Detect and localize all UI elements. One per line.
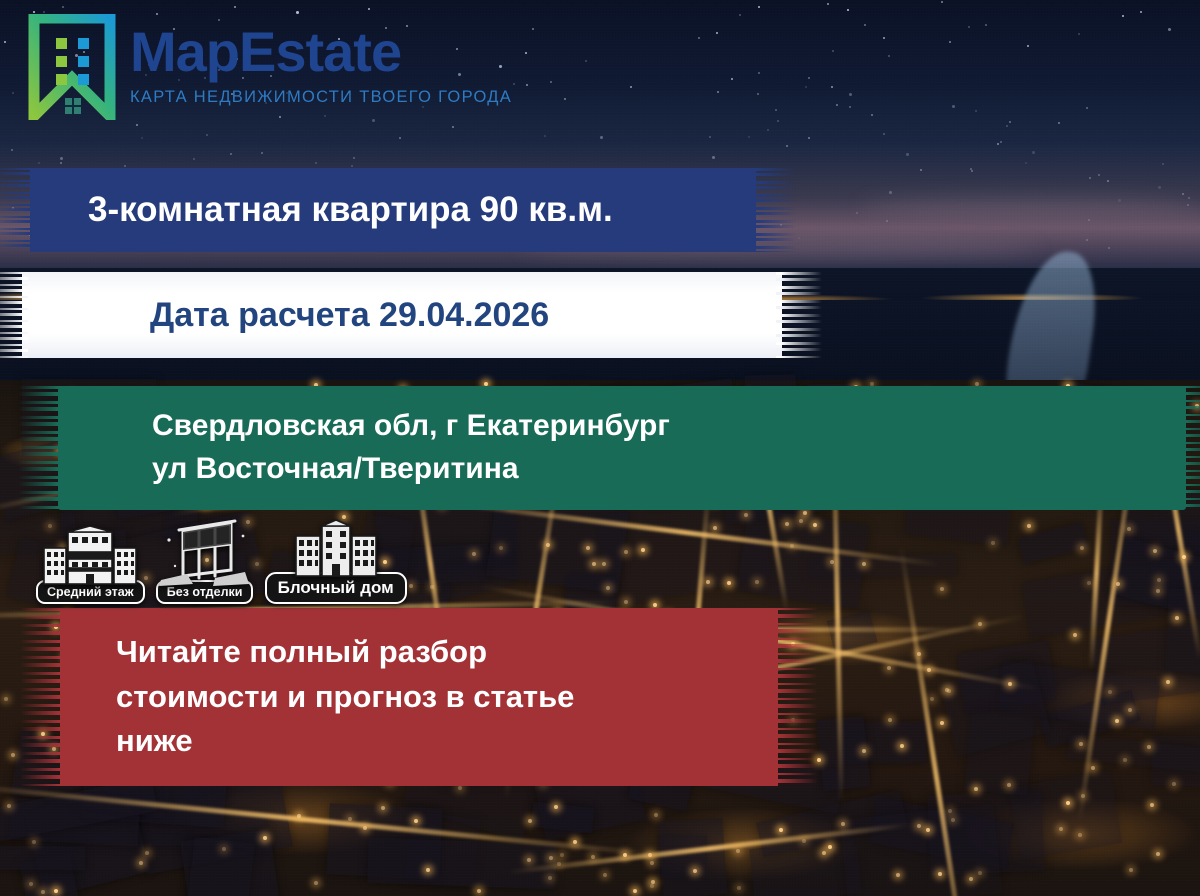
cta-banner[interactable]: Читайте полный разбор стоимости и прогно…	[60, 608, 778, 786]
address-banner: Свердловская обл, г Екатеринбург ул Вост…	[58, 386, 1186, 510]
calculation-date-banner: Дата расчета 29.04.2026	[22, 272, 782, 358]
unfinished-construction-icon	[153, 516, 257, 588]
bookmark-building-icon	[28, 14, 116, 120]
page-title: 3-комнатная квартира 90 кв.м.	[30, 190, 756, 230]
badge-blochnyi-dom[interactable]: Блочный дом	[265, 518, 407, 604]
feature-badges: Средний этаж Без отделки	[36, 516, 407, 604]
brand-logo[interactable]: MapEstate КАРТА НЕДВИЖИМОСТИ ТВОЕГО ГОРО…	[28, 14, 512, 120]
address-line-street: ул Восточная/Тверитина	[58, 448, 1186, 491]
brand-text-block: MapEstate КАРТА НЕДВИЖИМОСТИ ТВОЕГО ГОРО…	[130, 14, 512, 107]
calculation-date-text: Дата расчета 29.04.2026	[22, 296, 782, 335]
cta-line-1: Читайте полный разбор	[60, 630, 778, 675]
block-apartment-building-icon	[284, 518, 388, 580]
mid-rise-building-icon	[38, 526, 142, 588]
badge-srednii-etazh[interactable]: Средний этаж	[36, 526, 145, 604]
badge-bez-otdelki[interactable]: Без отделки	[153, 516, 257, 604]
brand-tagline: КАРТА НЕДВИЖИМОСТИ ТВОЕГО ГОРОДА	[130, 88, 512, 107]
address-line-region-city: Свердловская обл, г Екатеринбург	[58, 405, 1186, 448]
brand-name: MapEstate	[130, 24, 512, 80]
cta-line-2: стоимости и прогноз в статье	[60, 675, 778, 720]
property-title-banner: 3-комнатная квартира 90 кв.м.	[30, 168, 756, 252]
cta-line-3: ниже	[60, 719, 778, 764]
